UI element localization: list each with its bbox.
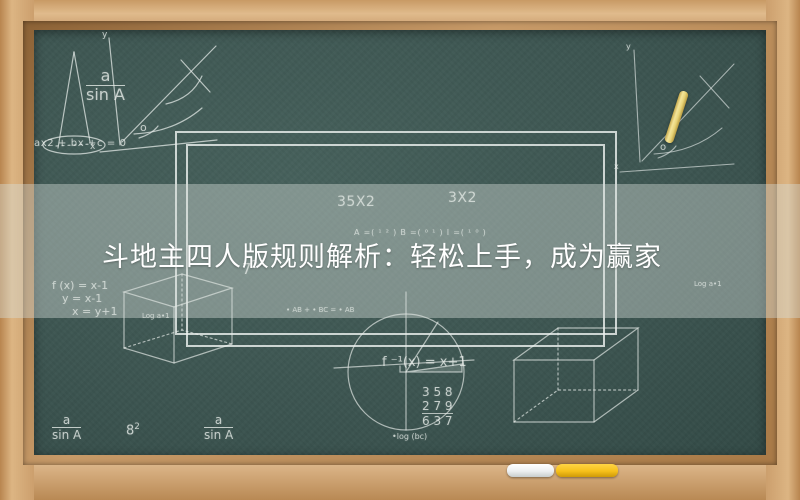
cube2-bottom: [514, 390, 638, 422]
quadratic-equation: ax2 + bx +c = 0: [34, 138, 127, 149]
pie-sector: [406, 364, 462, 372]
fx-line-2: y = x-1: [52, 292, 117, 305]
fx-line-3: x = y+1: [52, 305, 117, 318]
y-axis-label: y: [102, 30, 107, 40]
angle-o-label: o: [140, 121, 147, 134]
cone-formula-fraction: a sin A: [86, 68, 125, 104]
cone-base-dash: [56, 144, 92, 146]
cone-right-edge: [74, 52, 90, 142]
yellow-chalk-in-tray[interactable]: [556, 464, 618, 477]
division-line-1: 3 5 8: [422, 385, 453, 399]
cube-hidden-edge-b: [124, 330, 232, 348]
blackboard-banner: a sin A ax2 + bx +c = 0 y x o y x o f (x…: [0, 0, 800, 500]
function-definition-block: f (x) = x-1 y = x-1 x = y+1: [52, 279, 117, 318]
pie-radius-line: [406, 322, 438, 372]
log-abc-note: •log (bc): [392, 432, 427, 441]
angle-x-axis: [100, 140, 217, 152]
inverse-function: f ⁻¹(x) = x+1: [382, 355, 467, 370]
right-angle-hypotenuse: [642, 64, 734, 161]
fraction-left-bottom: a sin A: [52, 414, 81, 441]
eight-squared: 82: [126, 422, 140, 438]
right-angle-y-axis: [634, 50, 640, 162]
angle-arc-inner: [139, 126, 158, 138]
cube2-hidden-b: [514, 390, 638, 422]
angle-arc-outer: [134, 108, 202, 134]
angle-y-axis: [109, 38, 120, 145]
fraction-mid-bottom: a sin A: [204, 414, 233, 441]
angle-arc-2: [166, 76, 202, 104]
pie-right-angle-mark: [400, 366, 406, 372]
long-division-block: 3 5 8 2 7 9 6 3 7: [422, 385, 453, 428]
right-angle-arc: [654, 128, 722, 154]
division-line-3: 6 3 7: [422, 413, 453, 428]
multiplication-35x2: 35X2: [337, 194, 375, 210]
multiplication-3x2: 3X2: [448, 190, 477, 206]
right-angle-x-axis: [620, 164, 734, 172]
right-angle-o-label: o: [660, 142, 666, 153]
right-angle-arc-small: [658, 146, 676, 158]
cube-bottom: [124, 344, 232, 363]
yellow-chalk-stick-on-board[interactable]: [664, 90, 689, 144]
white-chalk-in-tray[interactable]: [507, 464, 554, 477]
right-angle-cross: [700, 76, 729, 108]
log-an-note: Log a•1: [142, 312, 170, 320]
page-title: 斗地主四人版规则解析：轻松上手，成为赢家: [0, 224, 800, 284]
vector-dot-formula: • AB + • BC = • AB: [286, 306, 354, 314]
pie-horizontal-axis: [334, 360, 474, 368]
cone-left-edge: [58, 52, 74, 148]
division-line-2: 2 7 9: [422, 399, 453, 413]
x-axis-label: x: [90, 142, 95, 152]
pie-circle: [348, 314, 464, 430]
angle-cross-1: [181, 60, 210, 92]
angle-hypotenuse: [122, 46, 216, 142]
right-y-axis-label: y: [626, 42, 631, 51]
cone-base-ellipse: [43, 136, 105, 154]
right-x-axis-label: x: [614, 162, 619, 171]
cube2-top-face: [514, 328, 638, 360]
